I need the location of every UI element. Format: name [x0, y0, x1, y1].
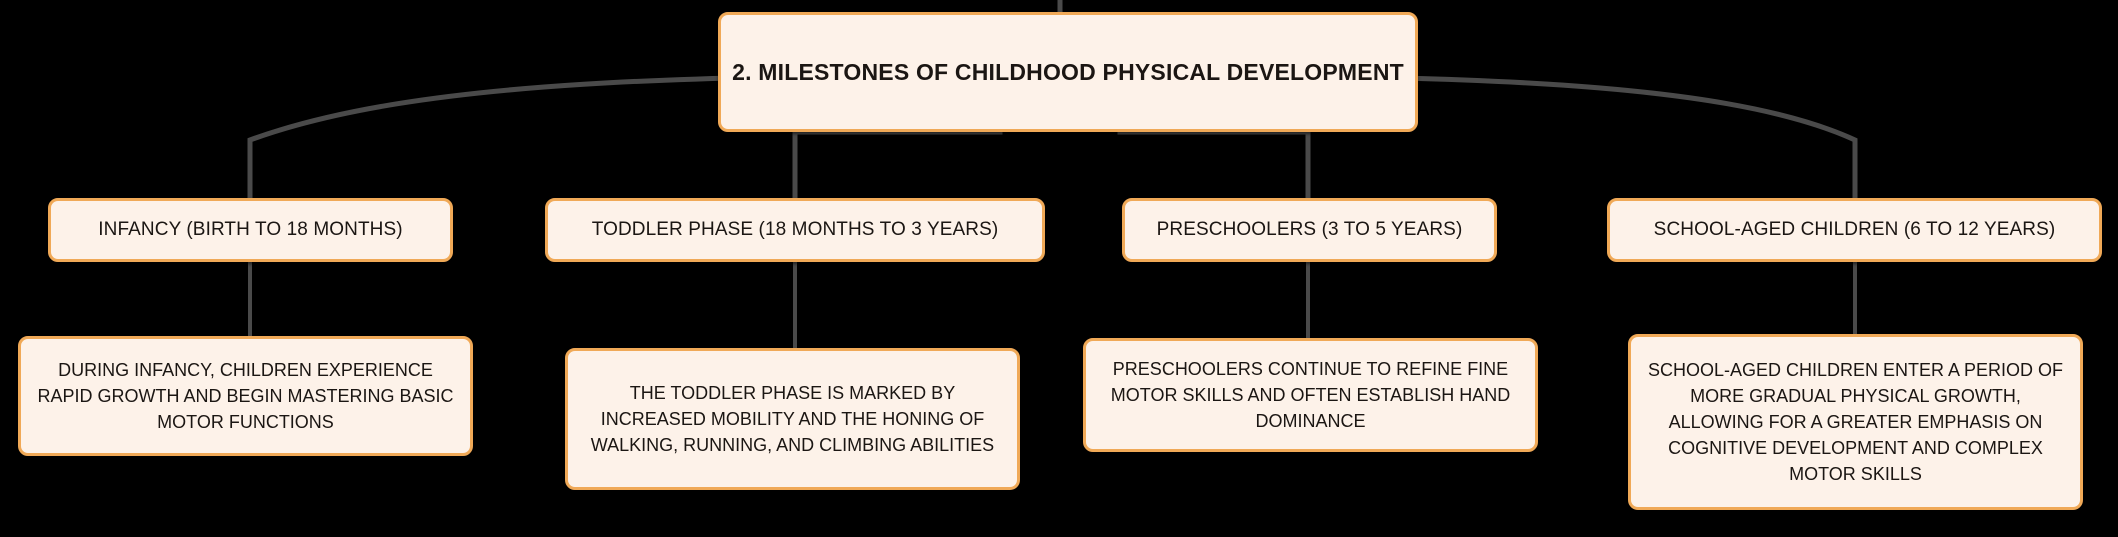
- detail-node-infancy[interactable]: DURING INFANCY, CHILDREN EXPERIENCE RAPI…: [18, 336, 473, 456]
- stage-node-infancy-label: INFANCY (BIRTH TO 18 MONTHS): [51, 219, 450, 241]
- stage-node-preschoolers[interactable]: PRESCHOOLERS (3 TO 5 YEARS): [1122, 198, 1497, 262]
- stage-node-toddler-label: TODDLER PHASE (18 MONTHS TO 3 YEARS): [548, 219, 1042, 241]
- detail-node-infancy-label: DURING INFANCY, CHILDREN EXPERIENCE RAPI…: [21, 357, 470, 435]
- stage-node-school-aged-label: SCHOOL-AGED CHILDREN (6 TO 12 YEARS): [1610, 219, 2099, 241]
- detail-node-school-aged-label: SCHOOL-AGED CHILDREN ENTER A PERIOD OF M…: [1631, 357, 2080, 487]
- mindmap-canvas: 2. MILESTONES OF CHILDHOOD PHYSICAL DEVE…: [0, 0, 2118, 537]
- detail-node-toddler-label: THE TODDLER PHASE IS MARKED BY INCREASED…: [568, 380, 1017, 458]
- detail-node-preschoolers[interactable]: PRESCHOOLERS CONTINUE TO REFINE FINE MOT…: [1083, 338, 1538, 452]
- stage-node-toddler[interactable]: TODDLER PHASE (18 MONTHS TO 3 YEARS): [545, 198, 1045, 262]
- root-node-label: 2. MILESTONES OF CHILDHOOD PHYSICAL DEVE…: [721, 59, 1415, 86]
- stage-node-school-aged[interactable]: SCHOOL-AGED CHILDREN (6 TO 12 YEARS): [1607, 198, 2102, 262]
- root-node[interactable]: 2. MILESTONES OF CHILDHOOD PHYSICAL DEVE…: [718, 12, 1418, 132]
- detail-node-toddler[interactable]: THE TODDLER PHASE IS MARKED BY INCREASED…: [565, 348, 1020, 490]
- detail-node-school-aged[interactable]: SCHOOL-AGED CHILDREN ENTER A PERIOD OF M…: [1628, 334, 2083, 510]
- stage-node-preschoolers-label: PRESCHOOLERS (3 TO 5 YEARS): [1125, 219, 1494, 241]
- stage-node-infancy[interactable]: INFANCY (BIRTH TO 18 MONTHS): [48, 198, 453, 262]
- detail-node-preschoolers-label: PRESCHOOLERS CONTINUE TO REFINE FINE MOT…: [1086, 356, 1535, 434]
